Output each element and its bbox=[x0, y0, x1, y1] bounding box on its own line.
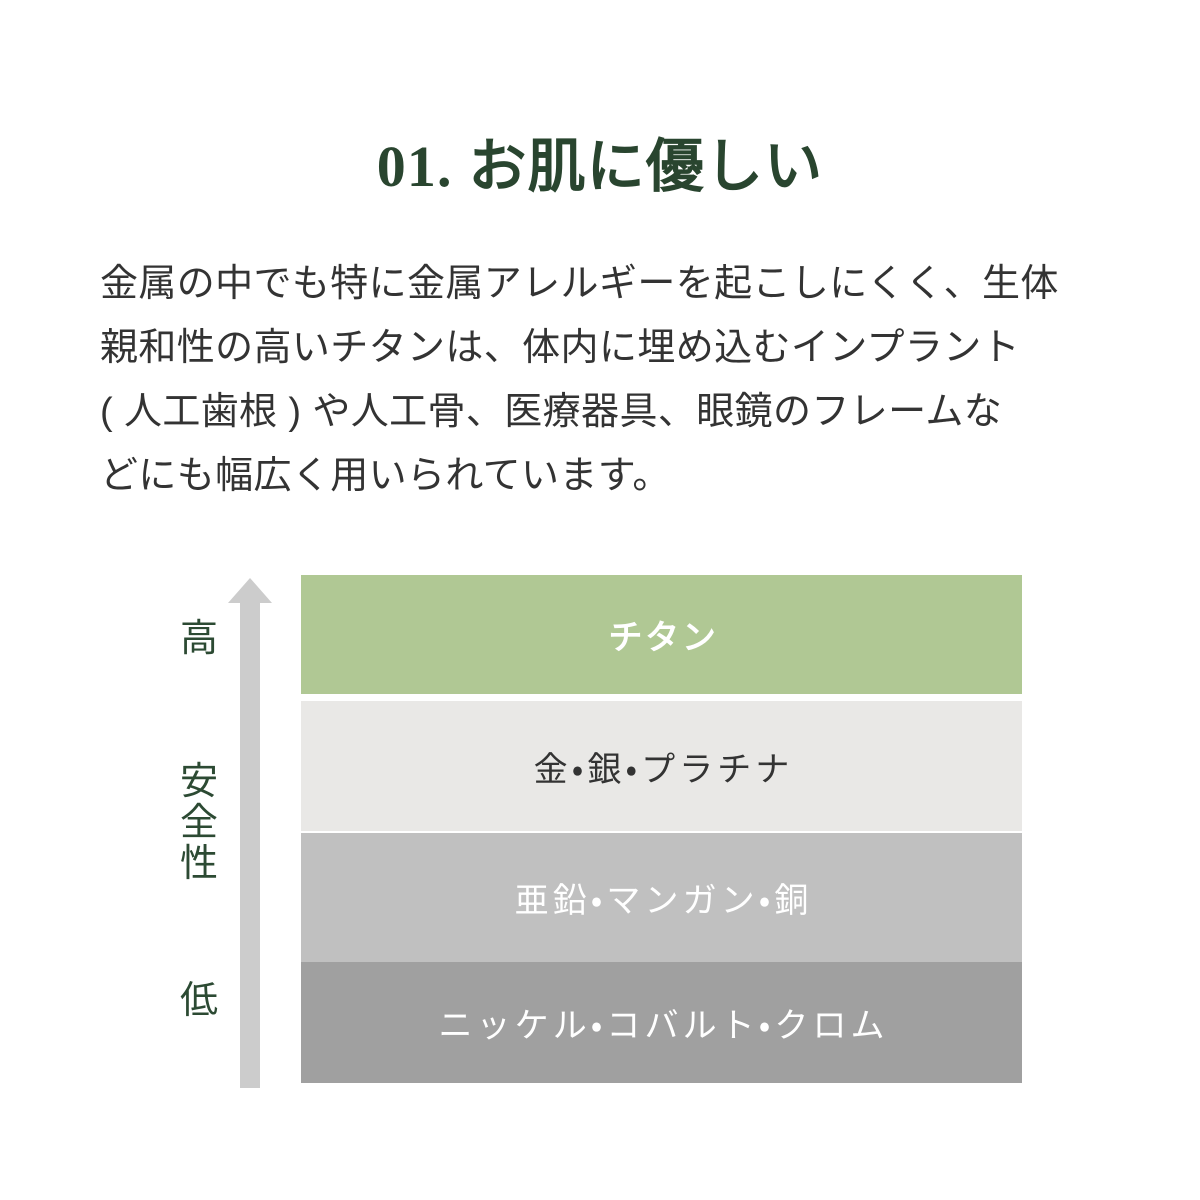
body-copy: 金属の中でも特に金属アレルギーを起こしにくく、生体 親和性の高いチタンは、体内に… bbox=[100, 252, 1110, 508]
page-title: 01. お肌に優しい bbox=[0, 135, 1200, 199]
chart-bar-precious-metals: 金・銀・プラチナ bbox=[301, 701, 1022, 831]
body-copy-line-2: 親和性の高いチタンは、体内に埋め込むインプラント bbox=[100, 316, 1110, 380]
axis-label-safety-char-1: 安 bbox=[172, 762, 226, 803]
chart-bars: チタン 金・銀・プラチナ 亜鉛・マンガン・銅 ニッケル・コバルト・クロム bbox=[301, 575, 1022, 1083]
body-copy-line-1: 金属の中でも特に金属アレルギーを起こしにくく、生体 bbox=[100, 252, 1110, 316]
page-root: 01. お肌に優しい 金属の中でも特に金属アレルギーを起こしにくく、生体 親和性… bbox=[0, 0, 1200, 1200]
safety-axis-arrow-icon bbox=[228, 578, 272, 1088]
axis-label-low: 低 bbox=[172, 982, 226, 1020]
chart-bar-zinc-manganese-copper: 亜鉛・マンガン・銅 bbox=[301, 833, 1022, 962]
axis-label-safety: 安 全 性 bbox=[172, 762, 226, 885]
chart-bar-label-precious-metals: 金・銀・プラチナ bbox=[530, 742, 794, 791]
chart-bar-nickel-cobalt-chrome: ニッケル・コバルト・クロム bbox=[301, 962, 1022, 1083]
body-copy-line-4: どにも幅広く用いられています。 bbox=[100, 444, 1110, 508]
chart-bar-label-titanium: チタン bbox=[604, 610, 718, 659]
axis-label-safety-char-2: 全 bbox=[172, 803, 226, 844]
axis-label-high: 高 bbox=[172, 620, 226, 658]
chart-bar-label-nickel-cobalt-chrome: ニッケル・コバルト・クロム bbox=[434, 998, 888, 1047]
body-copy-line-3: ( 人工歯根 ) や人工骨、医療器具、眼鏡のフレームな bbox=[100, 380, 1110, 444]
axis-label-safety-char-3: 性 bbox=[172, 844, 226, 885]
chart-bar-label-zinc-manganese-copper: 亜鉛・マンガン・銅 bbox=[511, 873, 813, 922]
chart-bar-titanium: チタン bbox=[301, 575, 1022, 694]
